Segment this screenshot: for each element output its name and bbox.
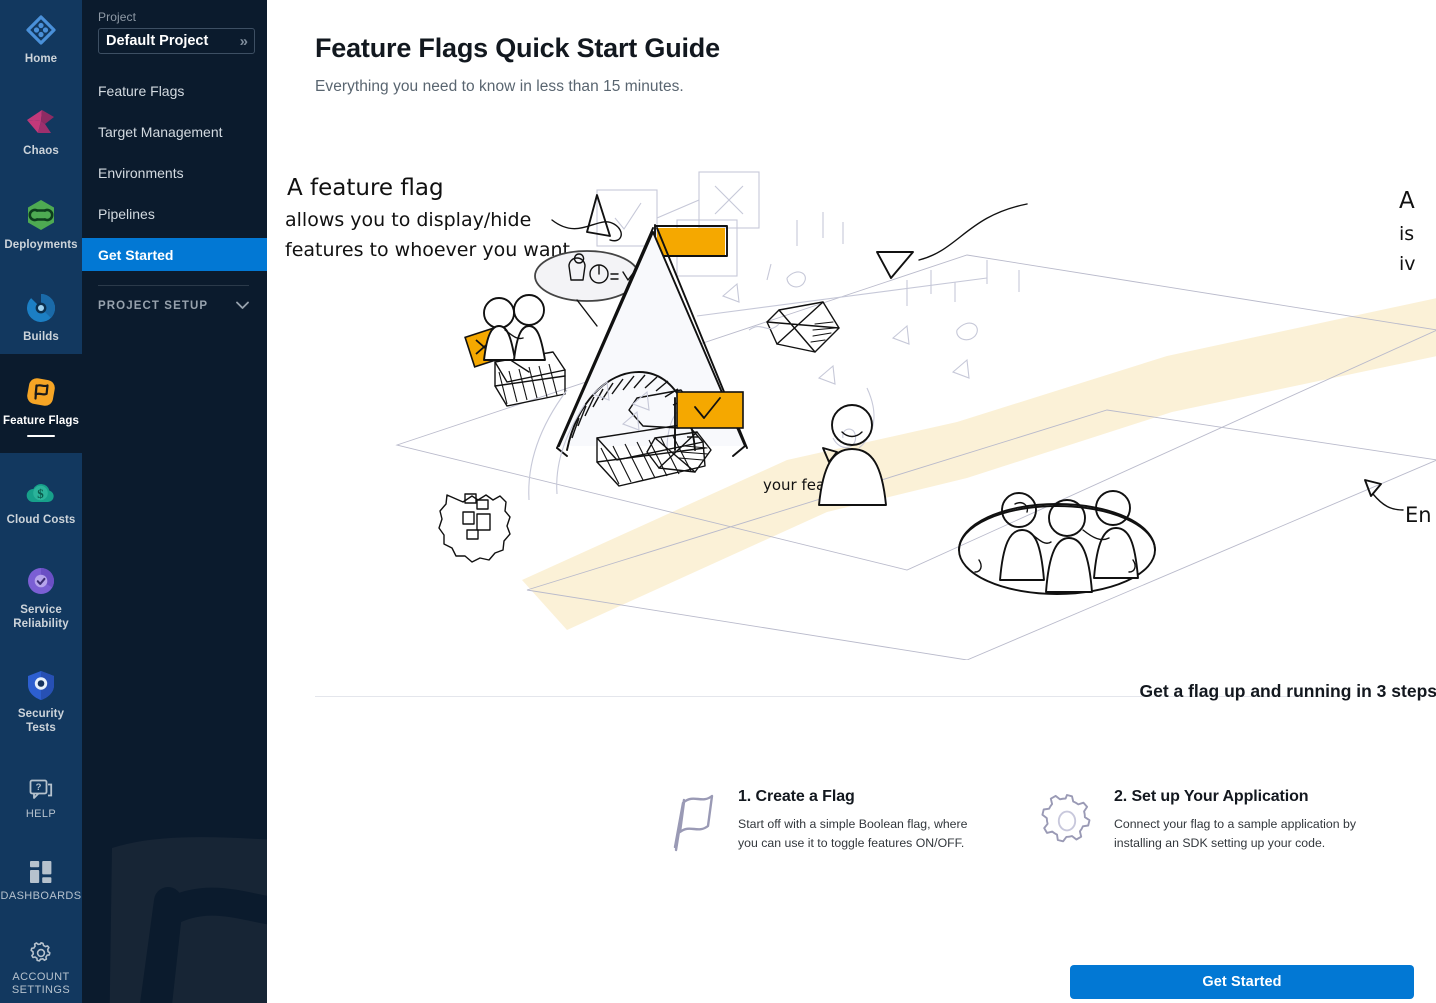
rail-label: Builds bbox=[23, 330, 59, 344]
sidebar-item-label: Environments bbox=[98, 165, 184, 181]
rail-label: HELP bbox=[26, 807, 56, 821]
rail-label: ACCOUNT SETTINGS bbox=[2, 971, 80, 997]
right-clipped-text: A is iv bbox=[1399, 188, 1416, 275]
small-flag-marker bbox=[587, 195, 610, 236]
get-started-button[interactable]: Get Started bbox=[1070, 965, 1414, 999]
step-set-up-your-application: 2. Set up Your Application Connect your … bbox=[1038, 788, 1358, 857]
project-label: Project bbox=[82, 10, 267, 28]
step-title: 2. Set up Your Application bbox=[1114, 788, 1358, 806]
rail-label: Feature Flags bbox=[3, 414, 79, 428]
sidebar-item-target-management[interactable]: Target Management bbox=[82, 115, 267, 148]
home-diamond-icon bbox=[25, 14, 57, 46]
chaos-icon bbox=[24, 106, 58, 138]
main-content: Feature Flags Quick Start Guide Everythi… bbox=[267, 0, 1436, 1003]
feature-flag-sketch: .ink { fill:none; stroke:#111; stroke-wi… bbox=[267, 160, 1436, 660]
page-title: Feature Flags Quick Start Guide bbox=[315, 33, 1436, 64]
environments-pointer bbox=[1373, 494, 1403, 510]
project-selector[interactable]: Default Project » bbox=[98, 28, 255, 54]
chevron-double-right-icon: » bbox=[240, 34, 248, 49]
rail-item-security-tests[interactable]: Security Tests bbox=[0, 641, 82, 745]
flag-watermark-logo bbox=[82, 793, 267, 1003]
rail-label: Chaos bbox=[23, 144, 59, 158]
rail-item-cloud-costs[interactable]: $ Cloud Costs bbox=[0, 453, 82, 537]
sidebar-item-get-started[interactable]: Get Started bbox=[82, 238, 267, 271]
security-tests-icon bbox=[26, 669, 56, 701]
rail-label: Service Reliability bbox=[2, 603, 80, 631]
sidebar-item-pipelines[interactable]: Pipelines bbox=[82, 197, 267, 230]
project-sidebar: Project Default Project » Feature Flags … bbox=[82, 0, 267, 1003]
rail-item-chaos[interactable]: Chaos bbox=[0, 76, 82, 168]
rail-item-feature-flags[interactable]: Feature Flags bbox=[0, 354, 82, 453]
active-indicator bbox=[27, 435, 55, 437]
project-name: Default Project bbox=[106, 33, 208, 49]
background-sketch-marks bbox=[697, 212, 1019, 378]
gear-icon bbox=[29, 941, 53, 965]
rail-label: Deployments bbox=[4, 238, 77, 252]
feature-flags-icon bbox=[25, 376, 57, 408]
sidebar-section-label: PROJECT SETUP bbox=[98, 300, 208, 312]
sidebar-item-environments[interactable]: Environments bbox=[82, 156, 267, 189]
flag-outline-icon bbox=[662, 788, 724, 857]
svg-text:$: $ bbox=[37, 486, 44, 501]
steps-section: Get a flag up and running in 3 steps 1. … bbox=[267, 676, 1436, 857]
caption-line-2: allows you to display/hide bbox=[285, 209, 531, 231]
people-pair-1 bbox=[484, 295, 545, 360]
sidebar-divider bbox=[98, 285, 249, 286]
step-description: Start off with a simple Boolean flag, wh… bbox=[738, 815, 982, 853]
sidebar-item-feature-flags[interactable]: Feature Flags bbox=[82, 74, 267, 107]
module-rail: Home Chaos Deployments bbox=[0, 0, 82, 1003]
right-text-3: iv bbox=[1399, 253, 1416, 275]
chevron-down-icon bbox=[236, 300, 249, 312]
right-text-2: is bbox=[1399, 223, 1414, 245]
page-subtitle: Everything you need to know in less than… bbox=[315, 78, 1436, 96]
help-icon: ? bbox=[29, 779, 53, 801]
caption-line-3: features to whoever you want... bbox=[285, 239, 588, 261]
app-root: Home Chaos Deployments bbox=[0, 0, 1436, 1003]
service-reliability-icon bbox=[25, 565, 57, 597]
gear-outline-icon bbox=[1038, 788, 1100, 857]
rail-label: Home bbox=[25, 52, 57, 66]
cloud-costs-icon: $ bbox=[24, 479, 58, 507]
steps-list: 1. Create a Flag Start off with a simple… bbox=[267, 788, 1436, 857]
right-text-1: A bbox=[1399, 188, 1415, 214]
caption-line-1: A feature flag bbox=[287, 175, 444, 201]
yellow-check-flag bbox=[677, 444, 747, 480]
rail-item-builds[interactable]: Builds bbox=[0, 262, 82, 354]
rail-item-help[interactable]: ? HELP bbox=[0, 745, 82, 831]
step-create-a-flag: 1. Create a Flag Start off with a simple… bbox=[662, 788, 982, 857]
dashboards-icon bbox=[30, 861, 52, 883]
rail-item-dashboards[interactable]: DASHBOARDS bbox=[0, 831, 82, 913]
builds-icon bbox=[25, 292, 57, 324]
deployments-icon bbox=[24, 198, 58, 232]
step-description: Connect your flag to a sample applicatio… bbox=[1114, 815, 1358, 853]
gear-sketch bbox=[439, 494, 510, 562]
step-title: 1. Create a Flag bbox=[738, 788, 982, 806]
sidebar-item-label: Target Management bbox=[98, 124, 223, 140]
ground-plane-top bbox=[397, 255, 1436, 570]
rail-item-deployments[interactable]: Deployments bbox=[0, 168, 82, 262]
label-environments: En bbox=[1405, 503, 1432, 527]
sidebar-item-label: Feature Flags bbox=[98, 83, 184, 99]
page-header: Feature Flags Quick Start Guide Everythi… bbox=[267, 0, 1436, 96]
illustration-caption: A feature flag allows you to display/hid… bbox=[285, 175, 588, 261]
check-flag-yellow bbox=[677, 392, 743, 428]
sidebar-section-project-setup[interactable]: PROJECT SETUP bbox=[82, 300, 267, 312]
sidebar-item-label: Get Started bbox=[98, 247, 173, 263]
rail-item-account-settings[interactable]: ACCOUNT SETTINGS bbox=[0, 913, 82, 1003]
project-nav-list: Feature Flags Target Management Environm… bbox=[82, 74, 267, 271]
rail-item-service-reliability[interactable]: Service Reliability bbox=[0, 537, 82, 641]
cta-container: Get Started bbox=[1070, 965, 1414, 999]
rail-label: Cloud Costs bbox=[7, 513, 76, 527]
svg-text:?: ? bbox=[36, 782, 42, 793]
hero-illustration: .ink { fill:none; stroke:#111; stroke-wi… bbox=[267, 160, 1436, 660]
arrow-to-right-text bbox=[919, 204, 1027, 260]
rail-label: Security Tests bbox=[2, 707, 80, 735]
steps-headline: Get a flag up and running in 3 steps bbox=[1139, 681, 1436, 702]
sidebar-item-label: Pipelines bbox=[98, 206, 155, 222]
rail-item-home[interactable]: Home bbox=[0, 0, 82, 76]
rail-label: DASHBOARDS bbox=[0, 889, 81, 903]
people-group-right bbox=[959, 491, 1155, 594]
